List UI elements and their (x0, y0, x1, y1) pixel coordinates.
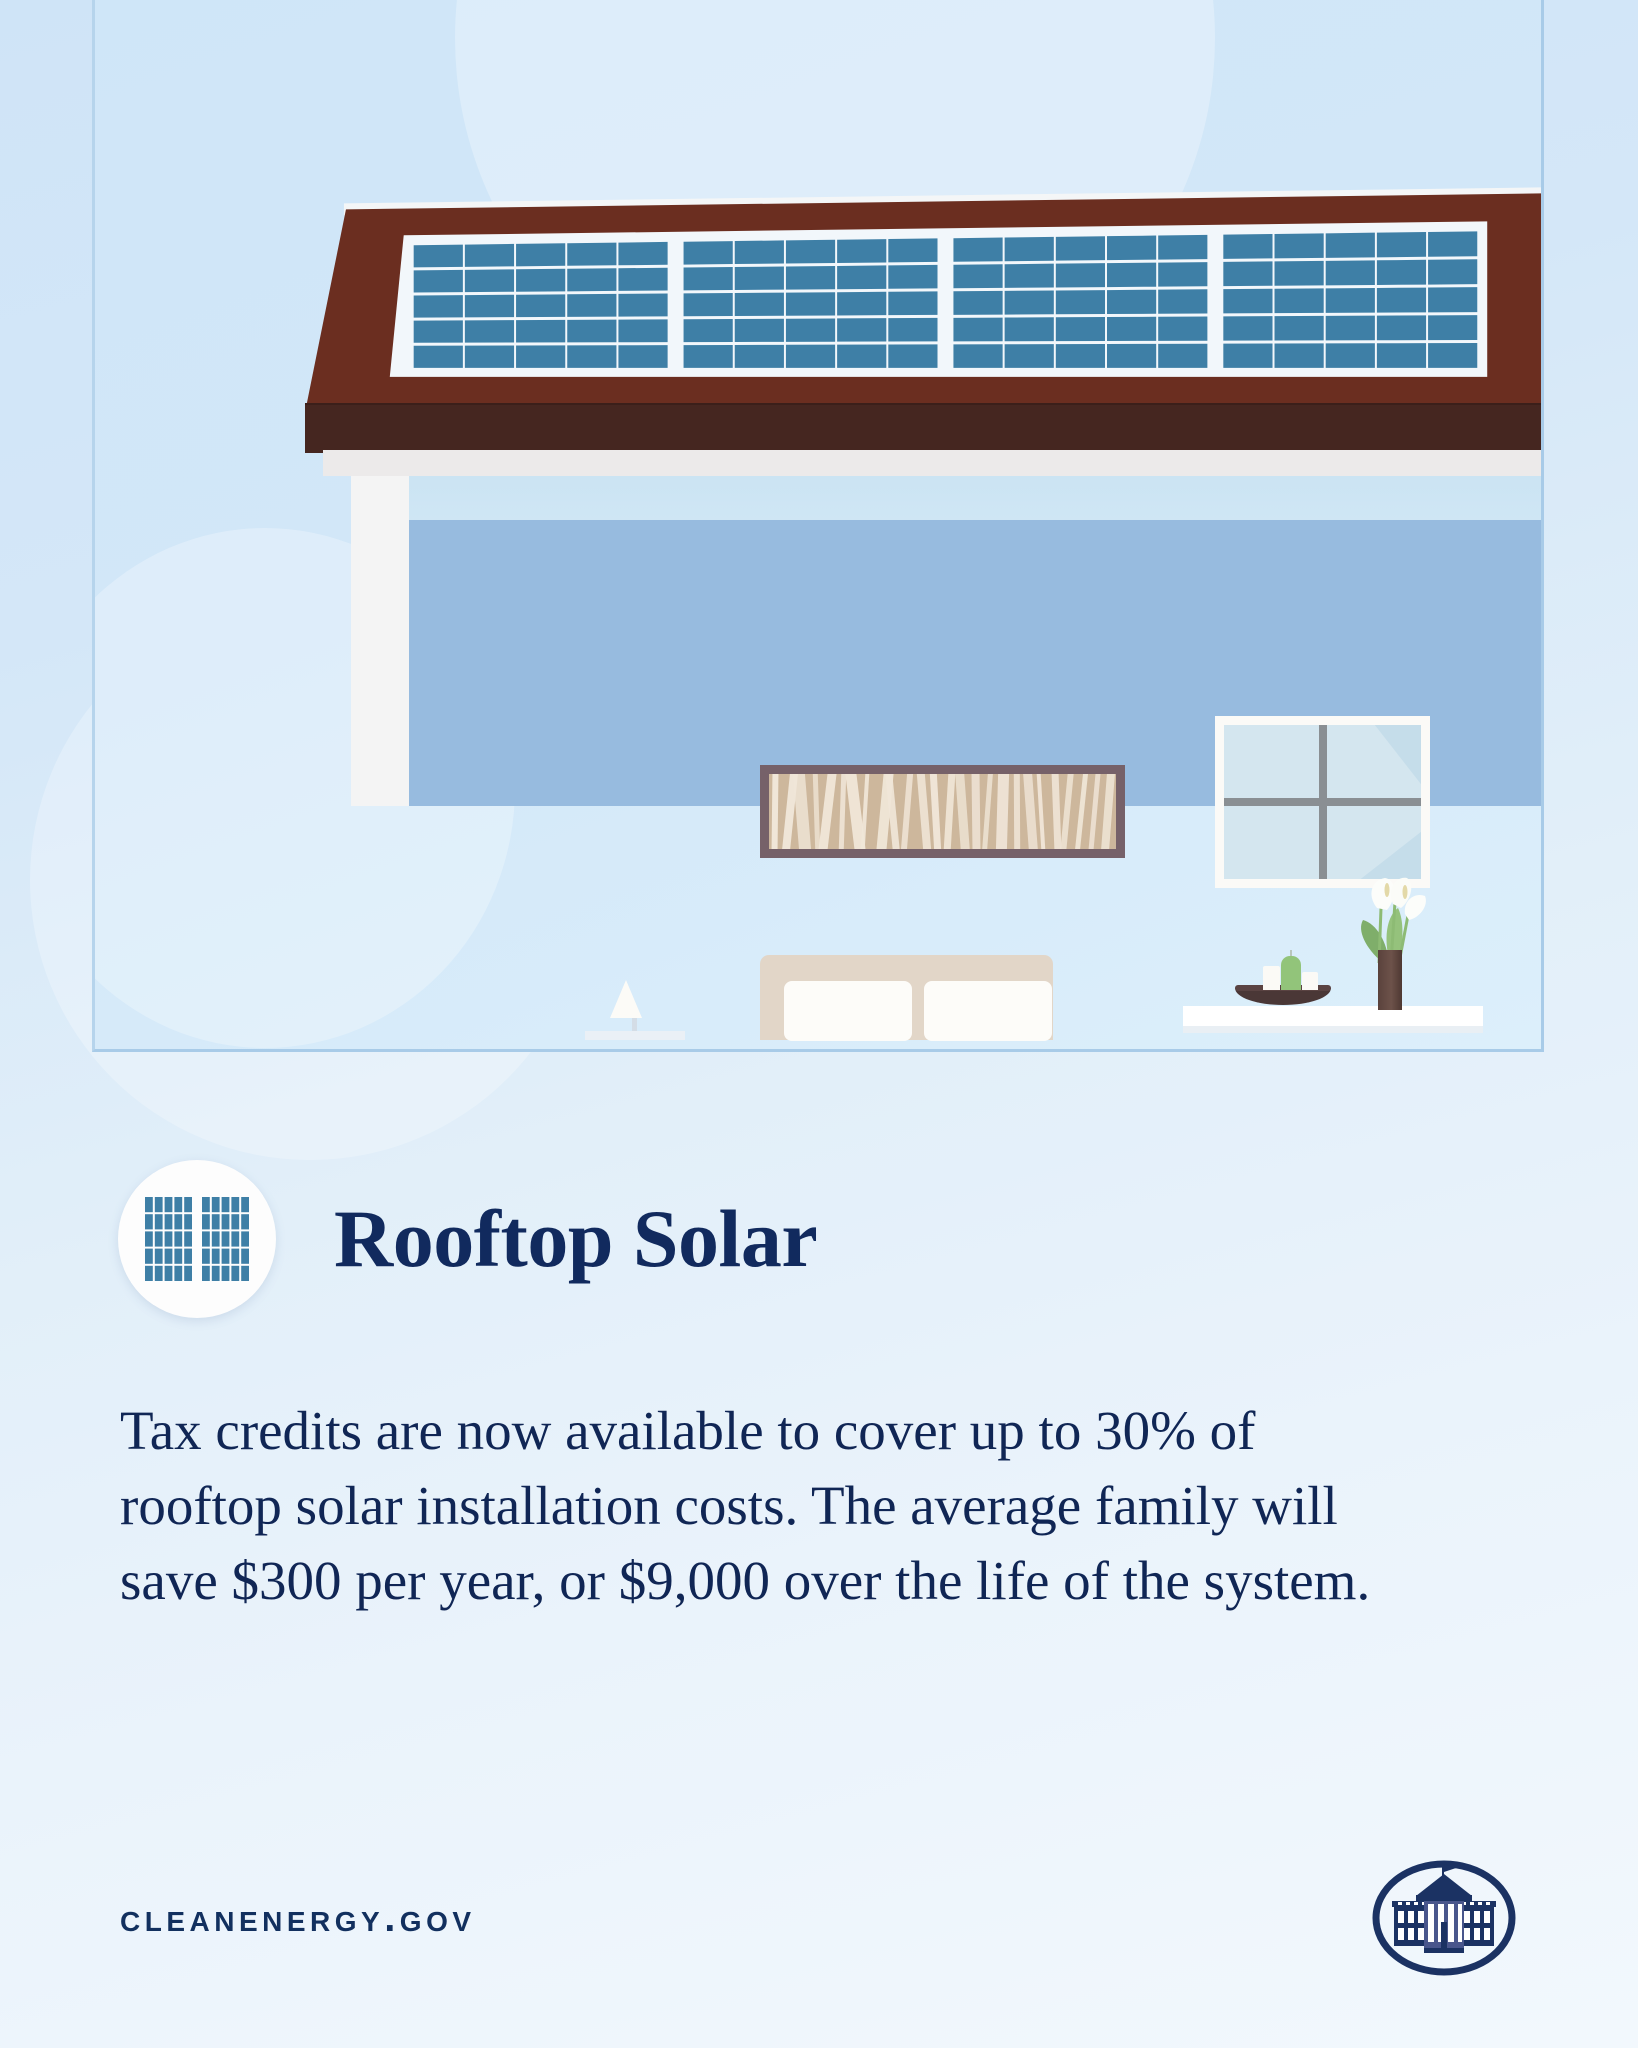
white-house-seal (1368, 1852, 1520, 1984)
hero-illustration (92, 0, 1544, 1052)
candle-wick (1290, 950, 1292, 956)
page-title: Rooftop Solar (334, 1198, 817, 1280)
candle-white-right (1302, 972, 1318, 990)
art-brush-stroke (772, 774, 779, 849)
body-copy: Tax credits are now available to cover u… (0, 1394, 1638, 1618)
window (1215, 716, 1430, 888)
art-brush-stroke (1075, 774, 1088, 849)
art-brush-stroke (955, 774, 970, 849)
candle-green (1281, 956, 1301, 990)
art-brush-stroke (995, 774, 1008, 849)
nightstand (585, 1031, 685, 1040)
window-muntin-horizontal (1224, 798, 1421, 806)
art-brush-stroke (972, 774, 981, 849)
framed-wall-art (760, 765, 1125, 858)
window-glass (1224, 725, 1421, 879)
art-brush-stroke (861, 774, 870, 849)
pillow-right (924, 981, 1052, 1041)
art-brush-stroke (838, 774, 845, 849)
art-brush-stroke (1101, 774, 1115, 849)
art-brush-stroke (818, 774, 837, 849)
art-brush-stroke (1088, 774, 1101, 849)
art-brush-stroke (930, 774, 942, 849)
vase-body (1378, 950, 1402, 1010)
pillow-left (784, 981, 912, 1041)
solar-panel-badge (118, 1160, 276, 1318)
console-table-edge (1183, 1026, 1483, 1033)
lamp-shade-icon (610, 980, 642, 1018)
art-brush-stroke (793, 774, 812, 849)
wall-upper-band (409, 476, 1544, 520)
solar-panel-icon (131, 1173, 263, 1305)
art-brush-stroke (1023, 774, 1039, 849)
art-brush-stroke (982, 774, 993, 849)
left-column (351, 476, 409, 806)
art-brush-stroke (1014, 774, 1021, 849)
soffit (323, 450, 1544, 476)
artwork-canvas (769, 774, 1116, 849)
art-brush-stroke (943, 774, 955, 849)
site-url-link[interactable]: CleanEnergy.Gov (120, 1896, 476, 1941)
footer: CleanEnergy.Gov (0, 1852, 1638, 1984)
art-brush-stroke (1037, 774, 1046, 849)
title-row: Rooftop Solar (0, 1160, 1638, 1318)
roof-fascia (305, 403, 1544, 453)
content-section: Rooftop Solar Tax credits are now availa… (0, 1160, 1638, 1618)
candle-white-left (1263, 966, 1280, 990)
art-brush-stroke (901, 774, 914, 849)
art-brush-stroke (1060, 774, 1074, 849)
